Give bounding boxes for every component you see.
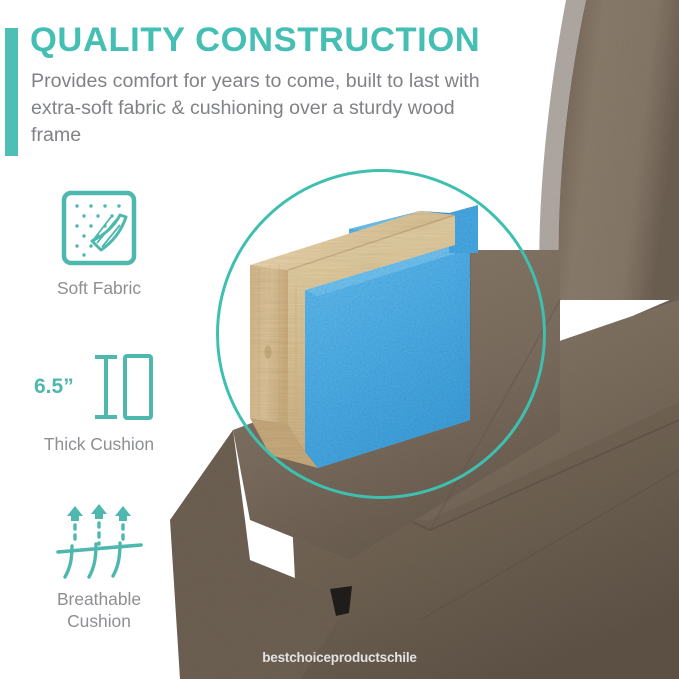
feature-thick-cushion: 6.5” Thick Cushion xyxy=(6,345,192,455)
breathable-cushion-icon-wrap xyxy=(6,500,192,582)
breathable-cushion-icon xyxy=(49,500,149,582)
page-title: QUALITY CONSTRUCTION xyxy=(30,22,470,59)
thick-cushion-value: 6.5” xyxy=(34,375,74,398)
accent-bar xyxy=(5,28,18,156)
feature-label: Soft Fabric xyxy=(6,277,192,299)
sofa-back-cushion xyxy=(539,0,679,300)
thick-cushion-icon: 6.5” xyxy=(29,345,169,427)
feature-label: Breathable Cushion xyxy=(6,588,192,633)
soft-fabric-icon-wrap xyxy=(6,185,192,271)
soft-fabric-icon xyxy=(56,185,142,271)
feature-label: Thick Cushion xyxy=(6,433,192,455)
feature-breathable-cushion: Breathable Cushion xyxy=(6,500,192,633)
feature-label-line2: Cushion xyxy=(6,610,192,632)
feature-soft-fabric: Soft Fabric xyxy=(6,185,192,299)
thick-cushion-icon-wrap: 6.5” xyxy=(6,345,192,427)
watermark: bestchoiceproductschile xyxy=(0,650,679,665)
feature-label-line1: Breathable xyxy=(6,588,192,610)
infographic-canvas: QUALITY CONSTRUCTION Provides comfort fo… xyxy=(0,0,679,679)
page-subtitle: Provides comfort for years to come, buil… xyxy=(31,68,483,148)
